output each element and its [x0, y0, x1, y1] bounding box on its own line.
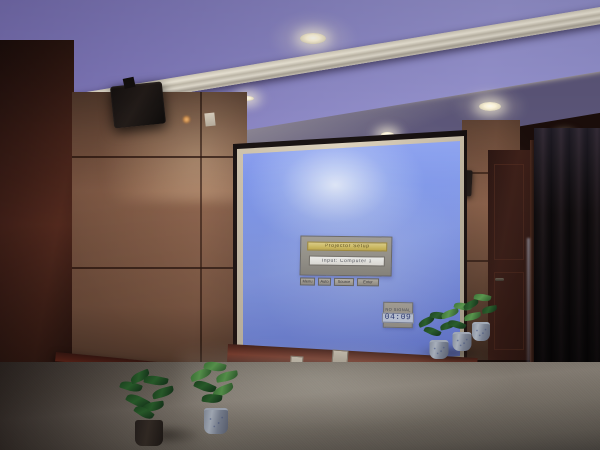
list-item	[186, 360, 246, 440]
door-handle[interactable]	[495, 278, 504, 281]
osd-button-enter-label: Enter	[363, 280, 373, 284]
osd-input-value: Input: Computer 1	[322, 258, 372, 264]
osd-button-auto[interactable]: Auto	[318, 277, 331, 285]
osd-button-auto-label: Auto	[320, 279, 328, 283]
blackout-curtain[interactable]	[534, 128, 600, 376]
downlight-2-icon	[479, 102, 501, 111]
osd-button-row: Menu Auto Source Enter	[298, 276, 395, 286]
osd-input-field[interactable]: Input: Computer 1	[309, 256, 385, 267]
osd-button-source[interactable]: Source	[334, 277, 354, 285]
list-item	[118, 368, 180, 450]
list-item	[459, 292, 503, 344]
osd-button-enter[interactable]: Enter	[357, 278, 379, 286]
clock-label: NO SIGNAL	[385, 307, 410, 312]
wall-speaker-icon	[110, 81, 166, 128]
osd-title-bar: Projector Setup	[307, 242, 387, 252]
downlight-1-icon	[300, 33, 326, 44]
clock-time: 04:09	[382, 312, 415, 323]
osd-button-source-label: Source	[338, 279, 351, 283]
av-wall-plate	[204, 113, 215, 127]
projector-osd-dialog[interactable]: Projector Setup Input: Computer 1	[300, 235, 393, 276]
screen-clock-overlay: NO SIGNAL 04:09	[383, 302, 414, 329]
carpet-floor	[0, 362, 600, 450]
osd-button-menu[interactable]: Menu	[300, 277, 315, 285]
room-photo-scene: Projector Setup Input: Computer 1 Menu A…	[0, 0, 600, 450]
osd-button-menu-label: Menu	[302, 279, 312, 283]
accent-lamp-glow	[183, 116, 190, 123]
osd-title-text: Projector Setup	[325, 244, 370, 250]
curtain-light-gap	[527, 238, 530, 366]
